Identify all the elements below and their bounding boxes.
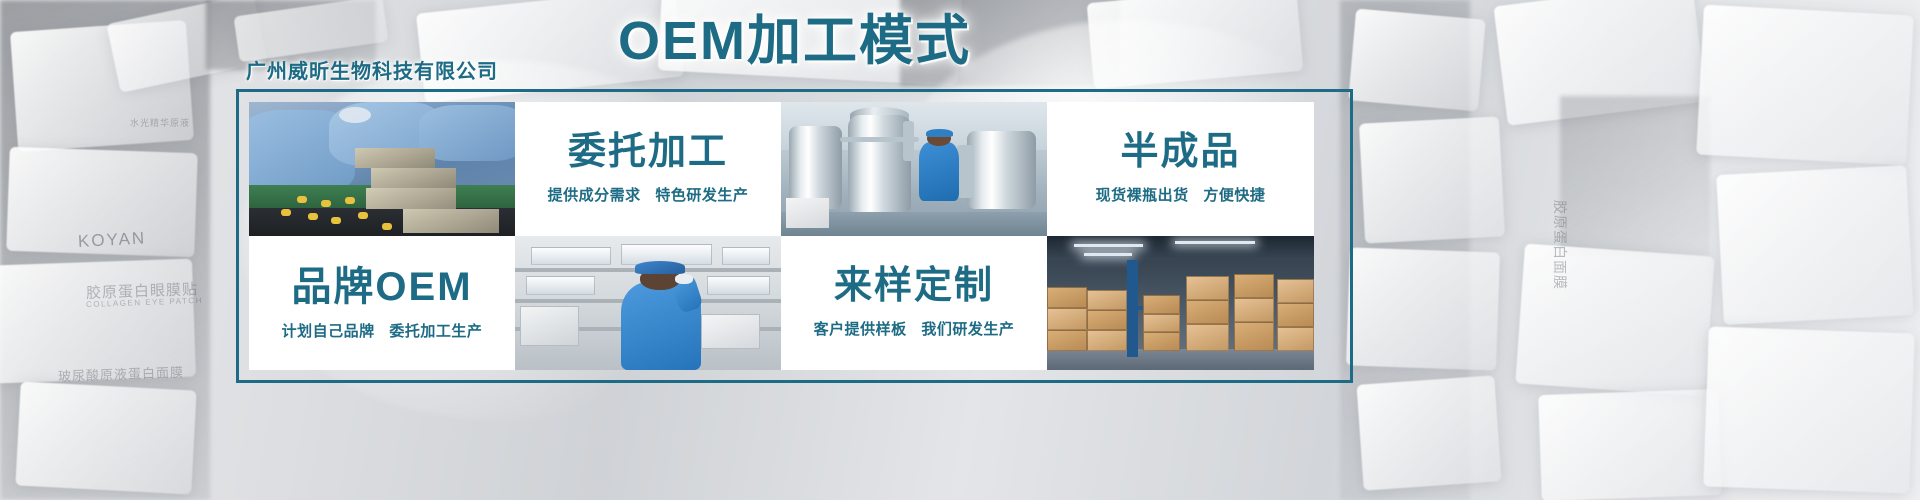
card-pinpai-oem[interactable]: 品牌OEM 计划自己品牌 委托加工生产	[249, 236, 515, 370]
card-subtitle: 现货裸瓶出货 方便快捷	[1091, 184, 1271, 205]
services-grid: 委托加工 提供成分需求 特色研发生产	[249, 102, 1340, 370]
card-subtitle-right: 特色研发生产	[655, 187, 748, 204]
watermark-product-3: 胶原蛋白面膜	[1550, 200, 1570, 290]
card-subtitle: 客户提供样板 我们研发生产	[809, 318, 1020, 339]
watermark-product-4: 水光精华原液	[130, 116, 190, 129]
card-subtitle-left: 提供成分需求	[548, 187, 641, 204]
card-ban-chengpin[interactable]: 半成品 现货裸瓶出货 方便快捷	[1047, 102, 1314, 236]
card-laiyang-dingzhi[interactable]: 来样定制 客户提供样板 我们研发生产	[781, 236, 1047, 370]
card-subtitle-left: 现货裸瓶出货	[1096, 187, 1189, 204]
warehouse-cartons-photo	[1047, 236, 1314, 370]
company-name: 广州威昕生物科技有限公司	[246, 55, 498, 84]
page-title: OEM加工模式	[618, 14, 971, 68]
stainless-steel-tanks-photo	[781, 102, 1047, 236]
card-title: 品牌OEM	[291, 266, 472, 308]
card-title: 委托加工	[568, 133, 728, 173]
lab-technician-photo	[515, 236, 781, 370]
production-line-workers-photo	[249, 102, 515, 236]
card-subtitle-right: 我们研发生产	[921, 321, 1014, 338]
card-subtitle-left: 计划自己品牌	[282, 323, 375, 340]
card-subtitle-right: 委托加工生产	[389, 323, 482, 340]
card-weituo-jiagong[interactable]: 委托加工 提供成分需求 特色研发生产	[515, 102, 781, 236]
oem-promo-banner: KOYAN 胶原蛋白眼膜贴 COLLAGEN EYE PATCH 玻尿酸原液蛋白…	[0, 0, 1920, 500]
card-title: 来样定制	[834, 267, 994, 307]
card-title: 半成品	[1120, 133, 1240, 173]
card-subtitle: 计划自己品牌 委托加工生产	[277, 320, 488, 341]
card-subtitle: 提供成分需求 特色研发生产	[543, 184, 754, 205]
services-frame: 委托加工 提供成分需求 特色研发生产	[236, 89, 1353, 383]
card-subtitle-right: 方便快捷	[1203, 187, 1265, 204]
card-subtitle-left: 客户提供样板	[814, 321, 907, 338]
watermark-brand: KOYAN	[77, 228, 146, 252]
